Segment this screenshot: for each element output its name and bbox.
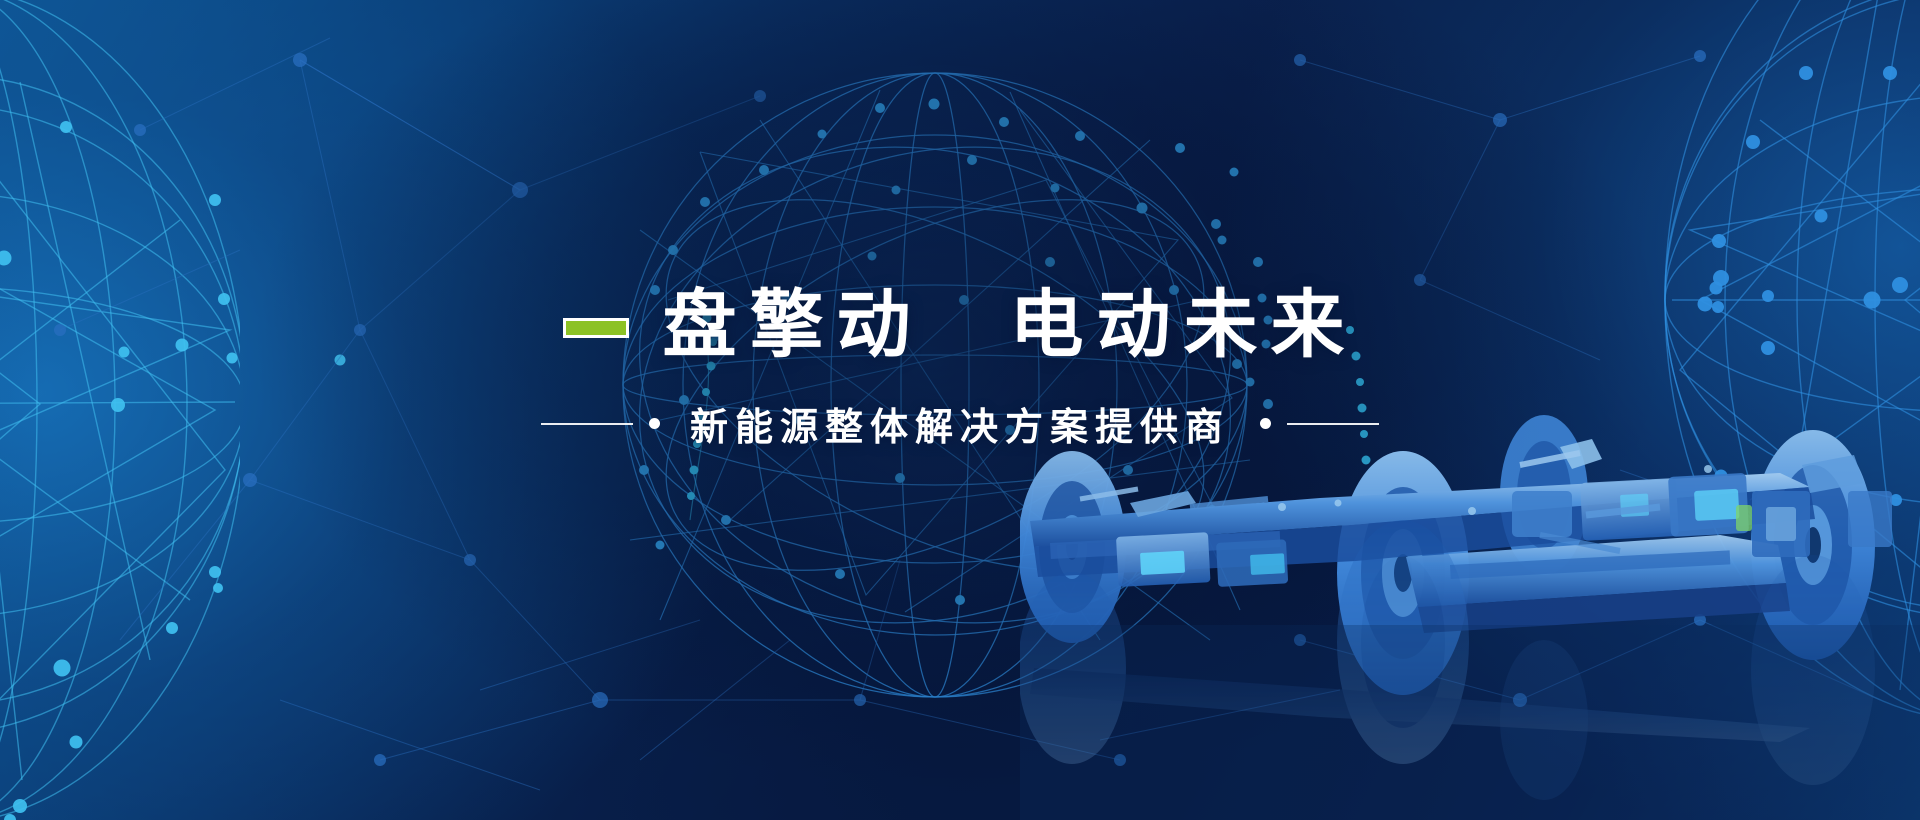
headline-row: 盘擎动电动未来 [563,288,1358,362]
headline-text: 盘擎动电动未来 [663,288,1358,362]
accent-dash-yi-character [563,318,629,338]
headline-segment-right: 电动未来 [1010,283,1358,366]
hero-banner: 盘擎动电动未来 新能源整体解决方案提供商 [0,0,1920,820]
rule-left [541,423,633,425]
rule-dot-left [649,418,660,429]
subtitle-row: 新能源整体解决方案提供商 [541,396,1379,451]
headline-segment-left: 盘擎动 [663,283,924,366]
rule-right [1287,423,1379,425]
rule-dot-right [1260,418,1271,429]
subtitle-text: 新能源整体解决方案提供商 [676,396,1244,451]
